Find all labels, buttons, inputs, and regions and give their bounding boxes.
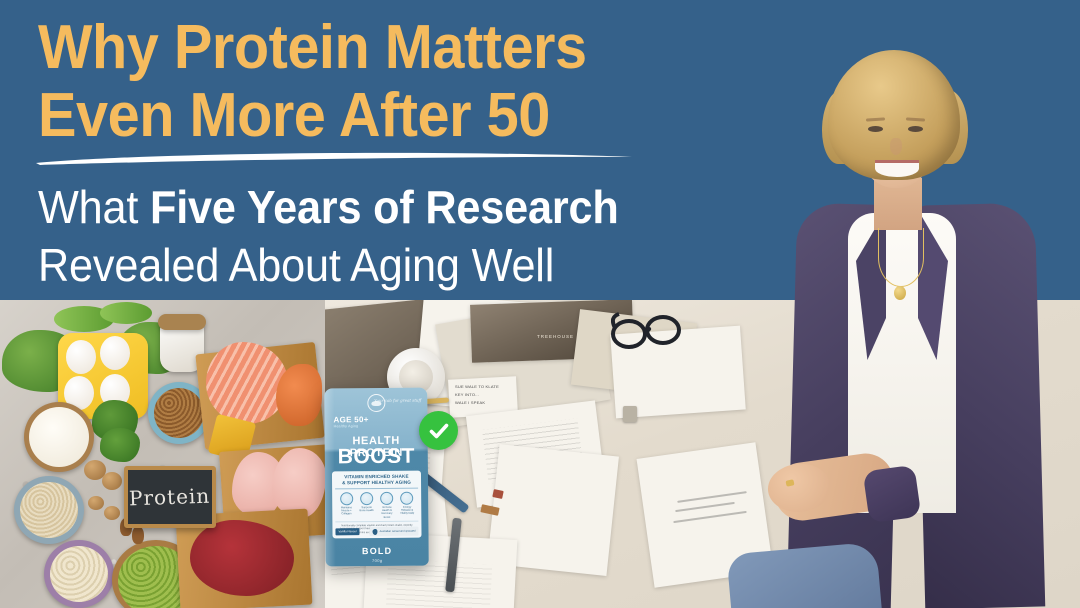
necklace-chain — [878, 228, 924, 287]
product-wordmark: BOOST — [325, 446, 428, 469]
ruled-lines — [386, 559, 492, 608]
subtitle-bold-part: Five Years of Research — [150, 181, 619, 233]
card-line: KEY INTO... — [455, 392, 479, 397]
benefit-caption: Energy Release & Vitality Daily — [400, 506, 415, 516]
shrimp-icon — [276, 364, 322, 426]
peanut-icon — [88, 496, 104, 510]
benefit-muscle: Maintains Muscle + Collagen — [339, 492, 354, 519]
origin-chip: Australian owned and operated — [370, 527, 419, 536]
headline-group: Why Protein Matters Even More After 50 — [38, 14, 768, 150]
bone-icon — [360, 492, 373, 505]
product-panel-footer: Vanilla Flavour Australian owned and ope… — [335, 527, 418, 537]
benefit-caption: Maintains Muscle + Collagen — [339, 506, 354, 516]
origin-label: Australian owned and operated — [380, 530, 416, 534]
headline-line-2: Even More After 50 — [38, 82, 717, 150]
subtitle-group: What Five Years of Research Revealed Abo… — [38, 178, 798, 294]
pouch-script-tag: Your cab for great stuff — [374, 398, 421, 403]
subtitle-line-1: What Five Years of Research — [38, 178, 752, 236]
benefit-caption: Immune Health & Recovery Boost — [379, 506, 394, 519]
egg-icon — [66, 340, 96, 374]
green-check-badge — [419, 411, 458, 450]
check-icon — [427, 419, 451, 443]
card-line: WALE I SPEAK — [455, 400, 485, 405]
kangaroo-icon — [373, 528, 378, 534]
age-badge: AGE 50+ Healthy Aging — [333, 415, 368, 429]
eyeglasses-icon — [611, 310, 683, 359]
subtitle-regular-part: What — [38, 181, 150, 233]
print-caption: TREEHOUSE — [537, 334, 574, 339]
salmon-steak — [206, 342, 288, 424]
jeans — [726, 542, 883, 608]
smiling-mouth — [875, 160, 919, 177]
benefit-immunity: Immune Health & Recovery Boost — [379, 492, 394, 519]
broccoli-icon — [100, 428, 140, 462]
grains — [20, 482, 78, 538]
product-info-panel: VITAMIN ENRICHED SHAKE & SUPPORT HEALTHY… — [332, 471, 422, 539]
benefit-caption: Supports Bone Health — [359, 506, 374, 513]
nose — [890, 138, 902, 155]
smiling-woman-portrait — [770, 28, 1070, 608]
cottage-cheese — [29, 407, 89, 467]
flavour-chip: Vanilla Flavour — [335, 528, 359, 535]
protein-chalkboard-sign: Protein — [124, 466, 216, 528]
buckwheat-grains — [154, 388, 204, 438]
egg-icon — [100, 336, 130, 370]
almond-icon — [132, 526, 144, 544]
benefit-bone: Supports Bone Health — [359, 492, 374, 519]
age-badge-main: AGE 50+ — [333, 415, 368, 424]
product-claim-line2: & SUPPORT HEALTHY AGING — [335, 480, 418, 487]
promo-banner-canvas: Protein TREEHOUSE SUE WALE TO KLATE KEY … — [0, 0, 1080, 608]
chicken-breast — [272, 448, 325, 518]
benefit-energy: Energy Release & Vitality Daily — [400, 492, 415, 519]
necklace-pendant — [894, 286, 906, 300]
jacket-cuff — [863, 465, 922, 524]
subtitle-line-2: Revealed About Aging Well — [38, 236, 752, 294]
headline-line-1: Why Protein Matters — [38, 14, 717, 82]
energy-icon — [401, 492, 414, 505]
product-claim: VITAMIN ENRICHED SHAKE & SUPPORT HEALTHY… — [335, 474, 418, 490]
underline-swoosh — [34, 150, 634, 166]
chalkboard-label: Protein — [129, 484, 211, 511]
peanut-icon — [104, 506, 120, 520]
muscle-icon — [340, 492, 353, 505]
age-badge-sub: Healthy Aging — [334, 424, 369, 429]
walnut-icon — [102, 472, 122, 490]
oats — [50, 546, 108, 602]
immunity-icon — [380, 492, 393, 505]
net-weight: 700g — [326, 558, 429, 564]
milk-lid — [158, 314, 206, 330]
eye-left — [868, 126, 883, 132]
benefit-icon-row: Maintains Muscle + Collagen Supports Bon… — [335, 489, 418, 522]
spring-onion-icon — [100, 302, 152, 324]
card-line: SUE WALE TO KLATE — [455, 384, 499, 389]
binder-clip-icon — [623, 406, 637, 422]
product-pouch[interactable]: Your cab for great stuff AGE 50+ Healthy… — [324, 388, 429, 567]
food-photo: Protein — [0, 300, 325, 608]
eye-right — [908, 126, 923, 132]
brand-wordmark: BOLD — [326, 546, 429, 557]
